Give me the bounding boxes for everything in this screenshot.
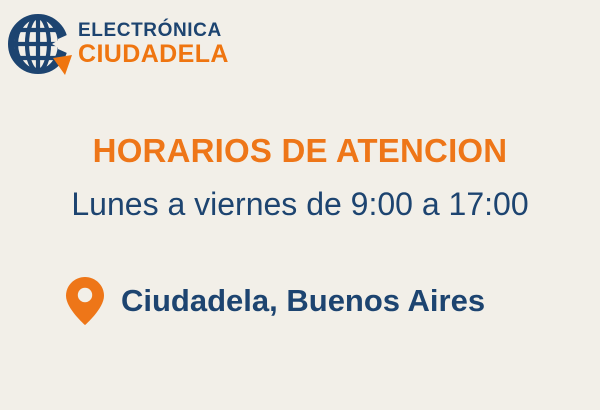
map-pin-svg xyxy=(65,276,105,326)
brand-logo[interactable]: ELECTRÓNICA CIUDADELA xyxy=(8,10,229,78)
brand-wordmark: ELECTRÓNICA CIUDADELA xyxy=(78,21,229,67)
location-label: Ciudadela, Buenos Aires xyxy=(121,283,485,319)
page-title: HORARIOS DE ATENCION xyxy=(0,132,600,170)
location-row: Ciudadela, Buenos Aires xyxy=(65,276,485,326)
globe-logo-icon xyxy=(8,11,74,77)
map-pin-icon xyxy=(65,276,105,326)
globe-logo-svg xyxy=(8,11,74,77)
brand-line-ciudadela: CIUDADELA xyxy=(78,42,229,67)
brand-line-electronica: ELECTRÓNICA xyxy=(78,21,229,40)
opening-hours-text: Lunes a viernes de 9:00 a 17:00 xyxy=(0,186,600,223)
